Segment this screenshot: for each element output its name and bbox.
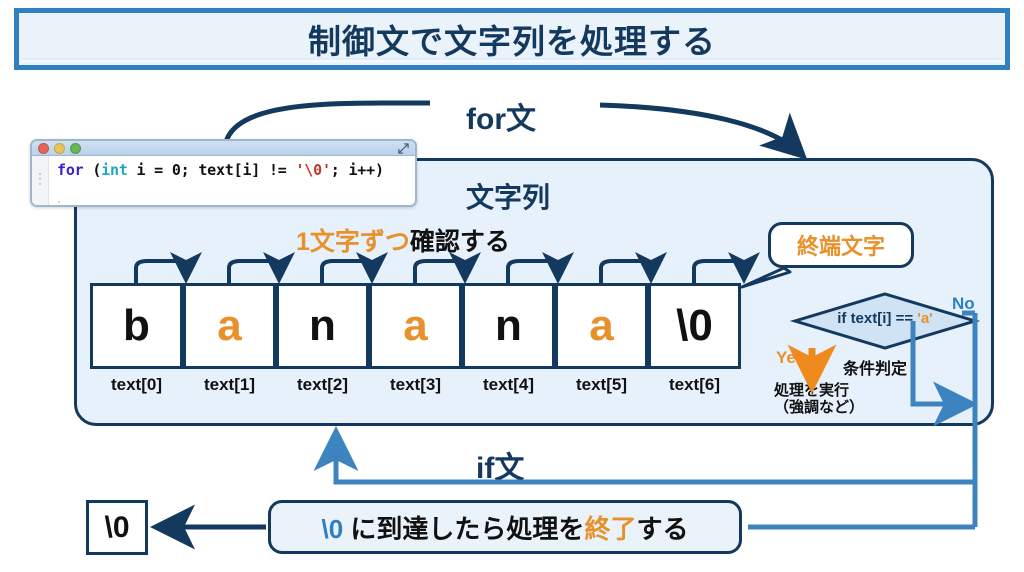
char-cell-4[interactable]: n: [462, 283, 555, 369]
char-cell-0[interactable]: b: [90, 283, 183, 369]
terminate-message-text: \0 に到達したら処理を終了する: [322, 509, 689, 546]
minimize-dot-icon[interactable]: [54, 143, 65, 154]
action-line-2: （強調など）: [774, 399, 864, 416]
code-caret-dot: [58, 201, 60, 203]
code-window-titlebar: [32, 141, 415, 156]
judgement-label: 条件判定: [843, 355, 907, 379]
char-glyph-0: b: [123, 304, 150, 348]
char-index-4: text[4]: [462, 375, 555, 395]
check-black-part: 確認する: [410, 228, 510, 256]
expand-arrow-icon[interactable]: [398, 143, 409, 154]
string-heading: 文字列: [466, 176, 550, 216]
for-statement-label: for文: [466, 94, 536, 138]
action-line-1: 処理を実行: [774, 382, 864, 399]
check-orange-part: 1文字ずつ: [296, 228, 410, 256]
close-dot-icon[interactable]: [38, 143, 49, 154]
code-string-literal: '\0': [295, 161, 330, 179]
decision-condition-text: if text[i] == 'a': [800, 310, 970, 327]
code-end: ; i++): [331, 161, 384, 179]
char-cell-3[interactable]: a: [369, 283, 462, 369]
char-cell-1[interactable]: a: [183, 283, 276, 369]
char-glyph-4: n: [495, 304, 522, 348]
code-middle: i = 0; text[i] !=: [128, 161, 296, 179]
terminate-msg-black-1: に到達したら処理を: [343, 514, 584, 544]
code-gutter: [32, 156, 49, 207]
char-glyph-5: a: [589, 304, 613, 348]
if-statement-label: if文: [476, 443, 524, 487]
char-index-5: text[5]: [555, 375, 648, 395]
title-banner: 制御文で文字列を処理する: [14, 8, 1010, 70]
char-glyph-1: a: [217, 304, 241, 348]
terminate-msg-orange: 終了: [584, 514, 636, 544]
char-glyph-6: \0: [676, 304, 713, 348]
code-editor-body[interactable]: for (int i = 0; text[i] != '\0'; i++): [32, 156, 415, 207]
slide-canvas: 制御文で文字列を処理する for文 if文 文字列 1文字ず: [0, 0, 1024, 572]
code-open-paren: (: [84, 161, 102, 179]
code-keyword-for: for: [57, 161, 84, 179]
char-index-2: text[2]: [276, 375, 369, 395]
terminate-msg-black-2: する: [636, 514, 688, 544]
terminator-callout-text: 終端文字: [797, 229, 885, 261]
check-each-char-label: 1文字ずつ確認する: [296, 222, 510, 258]
page-title: 制御文で文字列を処理する: [308, 15, 716, 63]
code-window[interactable]: for (int i = 0; text[i] != '\0'; i++): [30, 139, 417, 207]
terminator-callout: 終端文字: [768, 222, 914, 268]
terminate-message-pill: \0 に到達したら処理を終了する: [268, 500, 742, 554]
terminator-box: \0: [86, 500, 148, 555]
if-return-arrow: [336, 436, 975, 482]
terminate-msg-blue: \0: [322, 514, 344, 544]
code-type-int: int: [101, 161, 128, 179]
char-index-3: text[3]: [369, 375, 462, 395]
char-glyph-3: a: [403, 304, 427, 348]
code-line-for: for (int i = 0; text[i] != '\0'; i++): [49, 156, 384, 207]
action-label: 処理を実行 （強調など）: [774, 382, 864, 417]
char-cell-2[interactable]: n: [276, 283, 369, 369]
char-cell-6[interactable]: \0: [648, 283, 741, 369]
char-glyph-2: n: [309, 304, 336, 348]
maximize-dot-icon[interactable]: [70, 143, 81, 154]
char-cell-5[interactable]: a: [555, 283, 648, 369]
char-index-1: text[1]: [183, 375, 276, 395]
terminator-box-text: \0: [104, 511, 129, 545]
condition-value: 'a': [917, 310, 932, 327]
for-arc-right-segment: [600, 105, 800, 153]
condition-prefix: if text[i] ==: [837, 310, 917, 327]
char-index-0: text[0]: [90, 375, 183, 395]
char-index-6: text[6]: [648, 375, 741, 395]
yes-label: Yes: [776, 348, 805, 368]
